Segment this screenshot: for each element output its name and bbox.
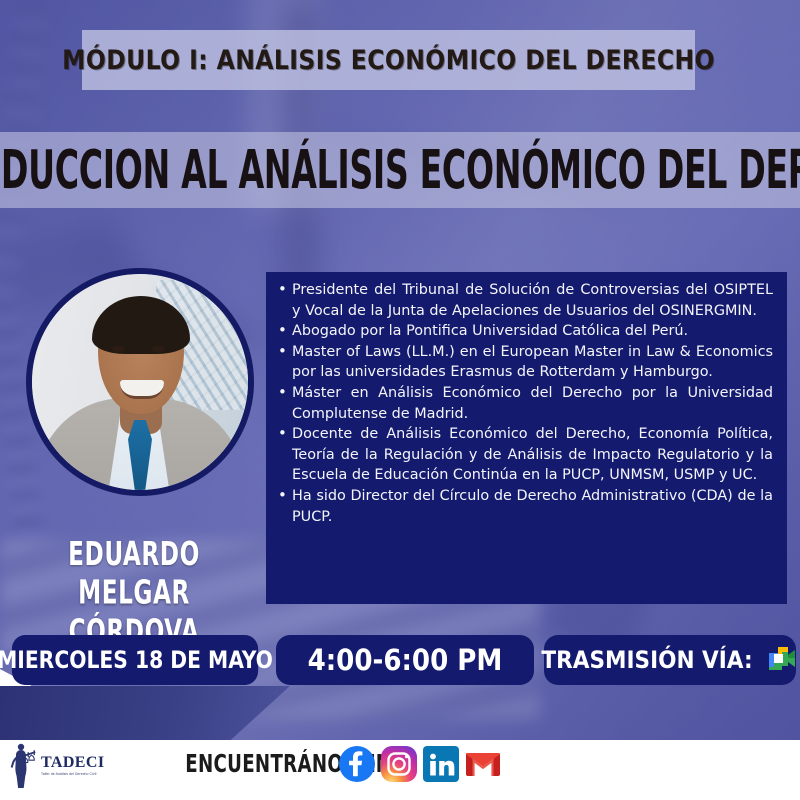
list-item: Ha sido Director del Círculo de Derecho … (276, 486, 773, 527)
facebook-icon[interactable] (338, 745, 376, 783)
speaker-photo (26, 268, 254, 496)
instagram-icon[interactable] (380, 745, 418, 783)
event-time-badge: 4:00-6:00 PM (276, 635, 534, 685)
list-item: Abogado por la Pontifica Universidad Cat… (276, 321, 773, 342)
gmail-icon[interactable] (464, 745, 502, 783)
event-date-badge: MIERCOLES 18 DE MAYO (12, 635, 258, 685)
brand-tagline: Taller de Análisis del Derecho Civil (41, 773, 104, 776)
google-meet-icon[interactable] (765, 647, 799, 674)
speaker-bio-panel: Presidente del Tribunal de Solución de C… (266, 272, 787, 604)
bio-list: Presidente del Tribunal de Solución de C… (276, 280, 773, 527)
broadcast-badge: TRASMISIÓN VÍA: (544, 635, 796, 685)
brand-name: TADECI (41, 755, 104, 771)
list-item: Master of Laws (LL.M.) en el European Ma… (276, 342, 773, 383)
social-links (338, 745, 502, 783)
list-item: Presidente del Tribunal de Solución de C… (276, 280, 773, 321)
tadeci-logo: TADECI Taller de Análisis del Derecho Ci… (8, 737, 92, 795)
list-item: Docente de Análisis Económico del Derech… (276, 424, 773, 486)
broadcast-label: TRASMISIÓN VÍA: (541, 646, 752, 674)
list-item: Máster en Análisis Económico del Derecho… (276, 383, 773, 424)
speaker-name: EDUARDO MELGAR CÓRDOVA (11, 534, 258, 651)
module-banner-text: MÓDULO I: ANÁLISIS ECONÓMICO DEL DERECHO (62, 44, 715, 75)
lady-justice-scales-icon (8, 740, 38, 792)
title-band: INTRODUCCION AL ANÁLISIS ECONÓMICO DEL D… (0, 132, 800, 208)
linkedin-icon[interactable] (422, 745, 460, 783)
event-flyer: MÓDULO I: ANÁLISIS ECONÓMICO DEL DERECHO… (0, 0, 800, 800)
page-title: INTRODUCCION AL ANÁLISIS ECONÓMICO DEL D… (0, 139, 800, 201)
module-banner: MÓDULO I: ANÁLISIS ECONÓMICO DEL DERECHO (82, 30, 695, 90)
